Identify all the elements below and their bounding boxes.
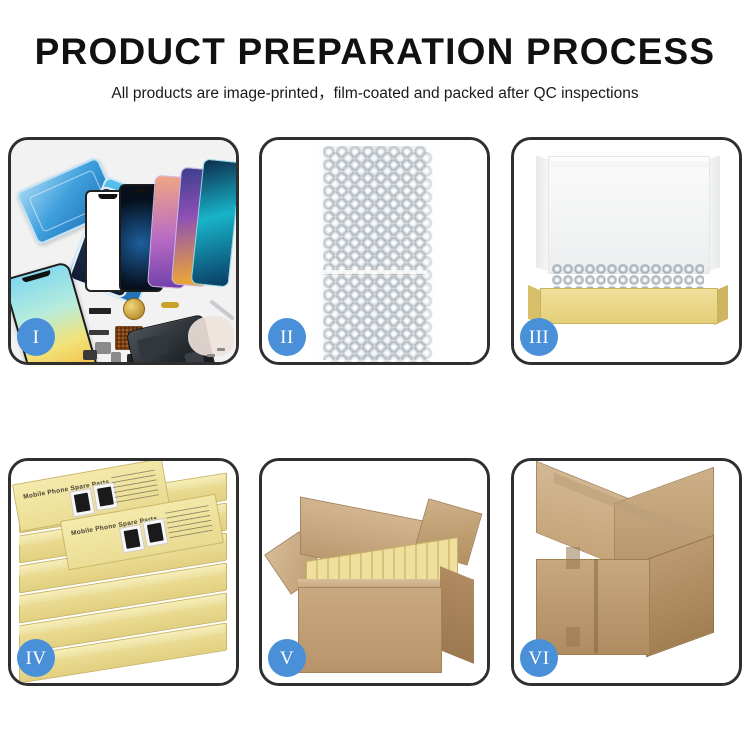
step-card-2: II	[259, 137, 490, 365]
hand-icon	[188, 316, 234, 356]
packing-tape-icon	[566, 627, 580, 647]
carton-front-panel	[298, 587, 442, 673]
step-badge-4: IV	[17, 639, 55, 677]
screen-thumbnail	[147, 523, 164, 543]
screen-thumbnail	[97, 486, 114, 506]
box-spec-lines	[165, 505, 213, 538]
yellow-box-base-icon	[540, 288, 718, 324]
carton-front-panel	[536, 559, 650, 655]
step-panel-1: I	[8, 137, 239, 365]
connector-part-icon	[89, 308, 111, 314]
bubble-wrapped-contents-icon	[552, 264, 704, 290]
box-window	[69, 488, 95, 517]
sim-tray-icon	[111, 352, 121, 362]
notch-icon	[98, 194, 117, 199]
camera-ring-icon	[123, 298, 145, 320]
box-window	[142, 518, 168, 547]
flex-cable-gold-icon	[161, 302, 179, 308]
step-panel-6: VI	[511, 458, 742, 686]
packing-tape-icon	[566, 547, 580, 569]
step-panel-5: V	[259, 458, 490, 686]
step-badge-2: II	[268, 318, 306, 356]
small-component-icon	[83, 350, 97, 360]
product-preparation-infographic: PRODUCT PREPARATION PROCESS All products…	[0, 0, 750, 750]
step-panel-2: II	[259, 137, 490, 365]
step-badge-6: VI	[520, 639, 558, 677]
box-window	[119, 524, 145, 553]
page-title: PRODUCT PREPARATION PROCESS	[0, 30, 750, 74]
speaker-part-icon	[95, 342, 111, 354]
bubble-pattern-secondary	[329, 152, 433, 362]
screw-icon	[217, 348, 225, 351]
step-badge-1: I	[17, 318, 55, 356]
step-card-5: V	[259, 458, 490, 686]
screen-thumbnail	[74, 493, 91, 513]
carton-front-seam	[594, 559, 598, 653]
step-card-6: VI	[511, 458, 742, 686]
box-spec-lines	[111, 470, 159, 503]
step-panel-4: Mobile Phone Spare Parts Mobile Phone Sp…	[8, 458, 239, 686]
wrap-seam	[323, 270, 427, 274]
notch-icon	[132, 188, 150, 193]
step-card-3: III	[511, 137, 742, 365]
carton-side-panel	[440, 566, 474, 664]
step-panel-3: III	[511, 137, 742, 365]
flex-cable-icon	[89, 330, 109, 335]
step-badge-5: V	[268, 639, 306, 677]
step-badge-3: III	[520, 318, 558, 356]
step-card-1: I	[8, 137, 239, 365]
steps-grid: I II	[8, 137, 742, 683]
notch-icon	[22, 270, 52, 283]
page-subtitle: All products are image-printed，film-coat…	[0, 84, 750, 104]
step-card-4: Mobile Phone Spare Parts Mobile Phone Sp…	[8, 458, 239, 686]
bubble-wrap-sleeve-icon	[323, 146, 427, 360]
white-box-lid-icon	[548, 156, 710, 274]
screw-icon	[207, 354, 215, 357]
header: PRODUCT PREPARATION PROCESS All products…	[0, 0, 750, 125]
screen-thumbnail	[124, 529, 141, 549]
